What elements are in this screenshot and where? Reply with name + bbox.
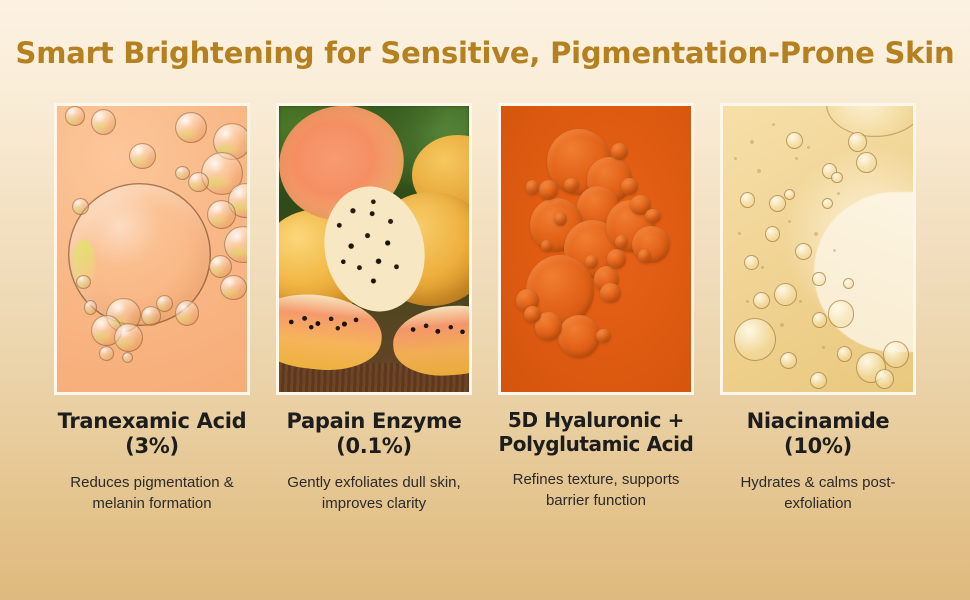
ingredient-name: Niacinamide (10%): [747, 409, 890, 459]
bubble-shape: [812, 312, 827, 328]
bubble-shape: [114, 323, 143, 352]
ingredient-name: 5D Hyaluronic + Polyglutamic Acid: [499, 409, 694, 456]
bubble-shape: [753, 292, 770, 309]
ingredient-name: Tranexamic Acid (3%): [58, 409, 247, 459]
bubble-shape: [875, 369, 894, 389]
ingredient-grid: Tranexamic Acid (3%) Reduces pigmentatio…: [52, 103, 918, 514]
peach-oil-bubbles-photo: [57, 106, 247, 392]
bubble-shape: [99, 346, 114, 360]
champagne-oil-bubbles-photo: [723, 106, 913, 392]
bubble-shape: [558, 315, 600, 358]
bubble-shape: [91, 109, 116, 135]
bubble-shape: [122, 352, 133, 363]
bubble-shape: [795, 243, 812, 260]
micro-bubble: [761, 266, 764, 269]
bubble-shape: [175, 112, 207, 143]
bubble-shape: [72, 198, 89, 215]
bubble-shape: [826, 106, 913, 137]
bubble-shape: [765, 226, 780, 242]
ingredient-card-tranexamic-acid: Tranexamic Acid (3%) Reduces pigmentatio…: [52, 103, 252, 514]
ingredient-description: Reduces pigmentation & melanin formation: [52, 472, 252, 515]
bubble-shape: [810, 372, 827, 389]
bubble-shape: [596, 329, 611, 343]
micro-bubble: [837, 192, 840, 195]
ingredient-image-frame: [54, 103, 250, 395]
bubble-shape: [621, 178, 638, 195]
bubble-shape: [156, 295, 173, 312]
bubble-shape: [645, 209, 660, 223]
micro-bubble: [738, 232, 741, 235]
ingredient-concentration: (0.1%): [336, 434, 412, 458]
bubble-shape: [585, 255, 598, 269]
ingredient-card-papain-enzyme: Papain Enzyme (0.1%) Gently exfoliates d…: [274, 103, 474, 514]
micro-bubble: [757, 169, 761, 173]
ingredient-name-text: Tranexamic Acid: [58, 409, 247, 433]
ingredient-description: Hydrates & calms post-exfoliation: [718, 472, 918, 515]
micro-bubble: [772, 123, 775, 126]
bubble-shape: [541, 240, 552, 251]
bubble-shape: [786, 132, 803, 149]
ingredient-image-frame: [276, 103, 472, 395]
bubble-shape: [822, 198, 833, 209]
ingredient-concentration: (10%): [784, 434, 852, 458]
bubble-shape: [843, 278, 854, 289]
ingredient-image-frame: [498, 103, 694, 395]
ingredient-description: Refines texture, supports barrier functi…: [496, 469, 696, 512]
bubble-shape: [740, 192, 755, 208]
page-title: Smart Brightening for Sensitive, Pigment…: [0, 36, 970, 70]
bubble-shape: [769, 195, 786, 212]
bubble-shape: [831, 172, 842, 183]
micro-bubble: [799, 300, 802, 303]
bubble-shape: [207, 200, 236, 229]
ingredient-name-text: 5D Hyaluronic +: [508, 408, 684, 432]
ingredient-concentration: (3%): [125, 434, 179, 458]
bubble-shape: [780, 352, 797, 369]
papaya-seeds: [404, 318, 469, 341]
micro-bubble: [807, 146, 810, 149]
bubble-shape: [611, 143, 628, 160]
papaya-fruit-photo: [279, 106, 469, 392]
bubble-shape: [744, 255, 759, 271]
micro-bubble: [746, 300, 749, 303]
oil-blob-shape: [814, 192, 913, 352]
bubble-shape: [734, 318, 776, 361]
bubble-shape: [848, 132, 867, 152]
ingredient-name-text: Papain Enzyme: [286, 409, 461, 433]
bubble-shape: [837, 346, 852, 362]
bubble-shape: [812, 272, 825, 286]
micro-bubble: [822, 346, 825, 349]
bubble-shape: [856, 152, 877, 173]
bubble-shape: [828, 300, 855, 327]
bubble-shape: [220, 275, 247, 301]
micro-bubble: [795, 157, 798, 160]
orange-bubble-cluster-photo: [501, 106, 691, 392]
bubble-shape: [564, 178, 579, 192]
bubble-shape: [600, 283, 621, 303]
micro-bubble: [734, 157, 737, 160]
bubble-shape: [84, 300, 97, 314]
ingredient-name-text-line2: Polyglutamic Acid: [499, 432, 694, 456]
bubble-shape: [175, 300, 200, 326]
papaya-seeds: [283, 309, 367, 335]
micro-bubble: [814, 232, 818, 236]
bubble-shape: [209, 255, 232, 278]
bubble-shape: [883, 341, 910, 368]
bubble-shape: [784, 189, 795, 200]
bubble-shape: [129, 143, 156, 169]
ingredient-name: Papain Enzyme (0.1%): [286, 409, 461, 459]
bubble-shape: [607, 249, 626, 269]
bubble-shape: [188, 172, 209, 192]
bubble-shape: [774, 283, 797, 306]
bubble-shape: [65, 106, 86, 126]
ingredient-card-niacinamide: Niacinamide (10%) Hydrates & calms post-…: [718, 103, 918, 514]
micro-bubble: [750, 140, 754, 144]
header: Smart Brightening for Sensitive, Pigment…: [0, 0, 970, 70]
micro-bubble: [788, 220, 791, 223]
micro-bubble: [780, 323, 784, 327]
ingredient-image-frame: [720, 103, 916, 395]
ingredient-card-hyaluronic-polyglutamic: 5D Hyaluronic + Polyglutamic Acid Refine…: [496, 103, 696, 514]
ingredient-description: Gently exfoliates dull skin, improves cl…: [274, 472, 474, 515]
ingredient-name-text: Niacinamide: [747, 409, 890, 433]
bubble-shape: [526, 180, 539, 194]
